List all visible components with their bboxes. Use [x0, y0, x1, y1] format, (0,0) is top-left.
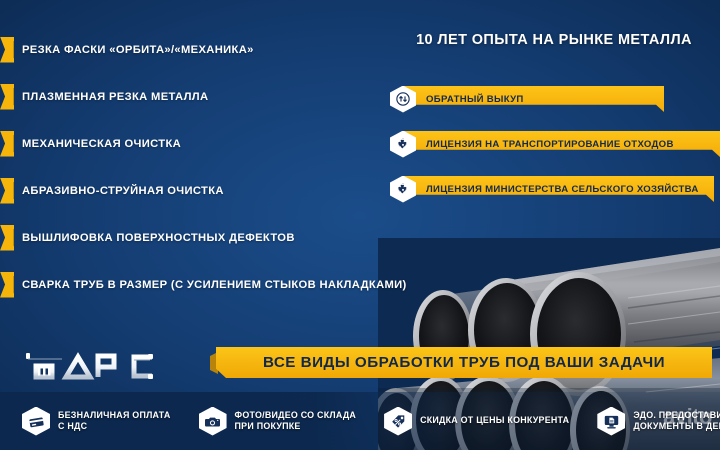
company-logo: БАРС	[22, 344, 187, 384]
avito-watermark: avito	[663, 404, 712, 430]
service-item: СВАРКА ТРУБ В РАЗМЕР (С УСИЛЕНИЕМ СТЫКОВ…	[0, 261, 380, 308]
badge-label: ОБРАТНЫЙ ВЫКУП	[426, 94, 524, 105]
service-label: ПЛАЗМЕННАЯ РЕЗКА МЕТАЛЛА	[22, 91, 208, 103]
services-list: РЕЗКА ФАСКИ «ОРБИТА»/«МЕХАНИКА» ПЛАЗМЕНН…	[0, 26, 380, 308]
yellow-arrow-marker-icon	[0, 131, 14, 157]
yellow-arrow-marker-icon	[0, 225, 14, 251]
credential-badges: ОБРАТНЫЙ ВЫКУП ЛИЦЕНЗИЯ НА ТРАНСПОРТИРОВ…	[390, 86, 720, 221]
camera-icon	[199, 407, 227, 436]
service-label: МЕХАНИЧЕСКАЯ ОЧИСТКА	[22, 138, 181, 150]
badge-buyback: ОБРАТНЫЙ ВЫКУП	[390, 86, 720, 112]
yellow-arrow-marker-icon	[0, 84, 14, 110]
feature-competitor-discount: СКИДКА ОТ ЦЕНЫ КОНКУРЕНТА	[384, 392, 569, 450]
service-item: ВЫШЛИФОВКА ПОВЕРХНОСТНЫХ ДЕФЕКТОВ	[0, 214, 380, 261]
service-item: МЕХАНИЧЕСКАЯ ОЧИСТКА	[0, 120, 380, 167]
logo-text: БАРС	[22, 382, 23, 383]
service-label: СВАРКА ТРУБ В РАЗМЕР (С УСИЛЕНИЕМ СТЫКОВ…	[22, 279, 407, 291]
headline-text: 10 ЛЕТ ОПЫТА НА РЫНКЕ МЕТАЛЛА	[404, 32, 704, 48]
yellow-arrow-marker-icon	[0, 272, 14, 298]
feature-photo-video: ФОТО/ВИДЕО СО СКЛАДА ПРИ ПОКУПКЕ	[199, 392, 357, 450]
badge-waste-transport-license: ЛИЦЕНЗИЯ НА ТРАНСПОРТИРОВАНИЕ ОТХОДОВ	[390, 131, 720, 157]
feature-line1: ФОТО/ВИДЕО СО СКЛАДА	[235, 410, 357, 420]
badge-label: ЛИЦЕНЗИЯ МИНИСТЕРСТВА СЕЛЬСКОГО ХОЗЯЙСТВ…	[426, 184, 699, 195]
credit-card-icon	[22, 407, 50, 436]
service-label: РЕЗКА ФАСКИ «ОРБИТА»/«МЕХАНИКА»	[22, 44, 254, 56]
badge-label: ЛИЦЕНЗИЯ НА ТРАНСПОРТИРОВАНИЕ ОТХОДОВ	[426, 139, 674, 150]
main-ribbon: ВСЕ ВИДЫ ОБРАБОТКИ ТРУБ ПОД ВАШИ ЗАДАЧИ	[216, 347, 712, 378]
feature-line2: С НДС	[58, 421, 87, 431]
ribbon-text: ВСЕ ВИДЫ ОБРАБОТКИ ТРУБ ПОД ВАШИ ЗАДАЧИ	[263, 354, 665, 371]
service-item: ПЛАЗМЕННАЯ РЕЗКА МЕТАЛЛА	[0, 73, 380, 120]
document-monitor-icon	[597, 407, 625, 436]
yellow-arrow-marker-icon	[0, 37, 14, 63]
service-label: АБРАЗИВНО-СТРУЙНАЯ ОЧИСТКА	[22, 185, 224, 197]
feature-cashless-payment: БЕЗНАЛИЧНАЯ ОПЛАТА С НДС	[22, 392, 171, 450]
service-label: ВЫШЛИФОВКА ПОВЕРХНОСТНЫХ ДЕФЕКТОВ	[22, 232, 295, 244]
yellow-arrow-marker-icon	[0, 178, 14, 204]
feature-line1: БЕЗНАЛИЧНАЯ ОПЛАТА	[58, 410, 171, 420]
service-item: РЕЗКА ФАСКИ «ОРБИТА»/«МЕХАНИКА»	[0, 26, 380, 73]
feature-line2: ПРИ ПОКУПКЕ	[235, 421, 301, 431]
feature-label: БЕЗНАЛИЧНАЯ ОПЛАТА С НДС	[58, 410, 171, 433]
badge-agriculture-ministry-license: ЛИЦЕНЗИЯ МИНИСТЕРСТВА СЕЛЬСКОГО ХОЗЯЙСТВ…	[390, 176, 720, 202]
advertising-banner: РЕЗКА ФАСКИ «ОРБИТА»/«МЕХАНИКА» ПЛАЗМЕНН…	[0, 0, 720, 450]
features-strip: БЕЗНАЛИЧНАЯ ОПЛАТА С НДС ФОТО/ВИДЕО СО С…	[0, 392, 720, 450]
feature-label: СКИДКА ОТ ЦЕНЫ КОНКУРЕНТА	[420, 415, 569, 427]
feature-line1: СКИДКА ОТ ЦЕНЫ КОНКУРЕНТА	[420, 415, 569, 425]
price-tag-discount-icon	[384, 407, 412, 436]
service-item: АБРАЗИВНО-СТРУЙНАЯ ОЧИСТКА	[0, 167, 380, 214]
feature-label: ФОТО/ВИДЕО СО СКЛАДА ПРИ ПОКУПКЕ	[235, 410, 357, 433]
